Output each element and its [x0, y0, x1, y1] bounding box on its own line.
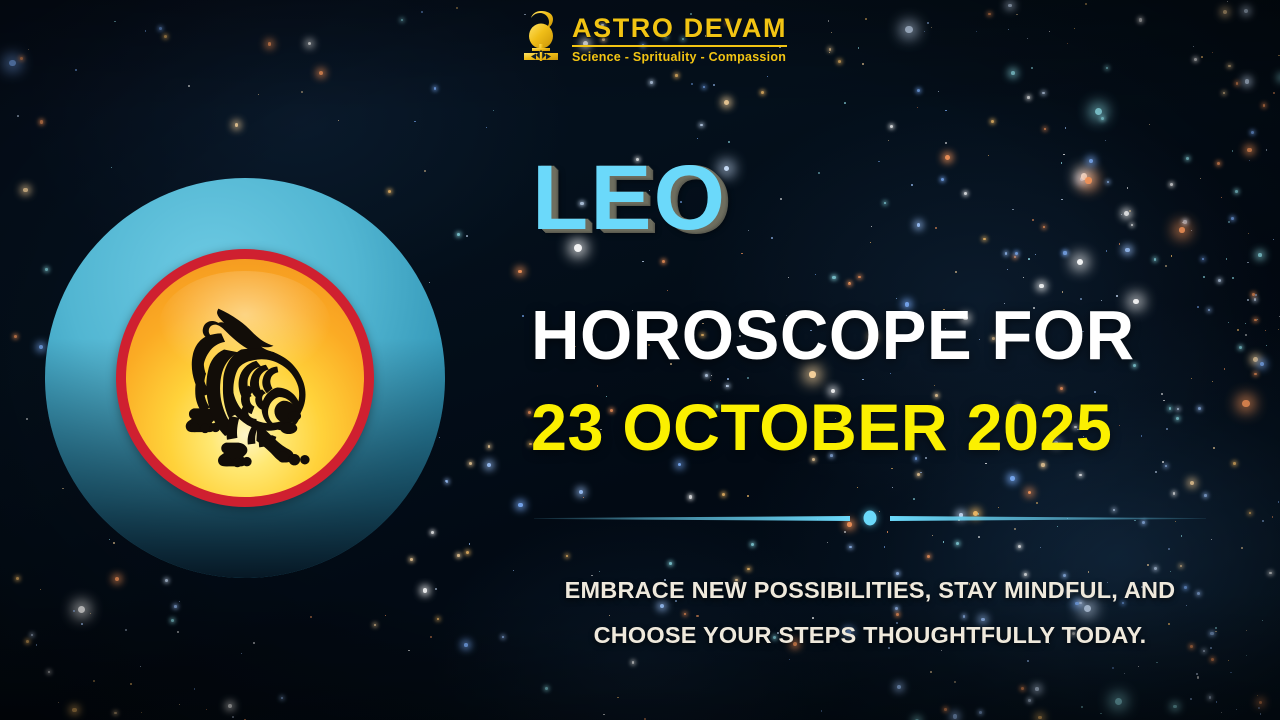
star — [194, 688, 196, 690]
star — [1259, 701, 1262, 704]
star — [93, 680, 95, 682]
star — [1260, 713, 1262, 715]
star — [9, 60, 16, 67]
leo-lion-icon — [150, 283, 340, 473]
star — [513, 570, 515, 572]
star — [1246, 655, 1247, 656]
star — [165, 579, 168, 582]
star — [72, 708, 77, 713]
star — [268, 42, 272, 46]
star — [281, 697, 283, 699]
star — [1223, 10, 1227, 14]
star — [206, 709, 207, 710]
star — [1237, 329, 1239, 331]
star — [1230, 672, 1232, 674]
star — [1233, 462, 1236, 465]
star — [1247, 262, 1248, 263]
leo-zodiac-emblem — [45, 178, 445, 578]
star — [457, 554, 459, 556]
star — [1228, 221, 1230, 223]
star — [179, 601, 180, 602]
star — [1262, 520, 1264, 522]
star — [1244, 9, 1248, 13]
star — [1232, 150, 1234, 152]
brand-logo-text: ASTRO DEVAM Science - Sprituality - Comp… — [572, 15, 787, 64]
star — [40, 589, 41, 590]
brand-name: ASTRO DEVAM — [572, 15, 787, 42]
astro-devam-emblem-icon — [520, 8, 562, 70]
brand-divider-rule — [572, 45, 787, 48]
star — [125, 629, 127, 631]
star — [78, 606, 85, 613]
star — [1248, 233, 1249, 234]
star — [114, 712, 116, 714]
star — [1252, 293, 1255, 296]
star — [171, 619, 174, 622]
star — [17, 115, 19, 117]
star — [1226, 258, 1228, 260]
star — [1227, 1, 1228, 2]
star — [235, 123, 239, 127]
star — [258, 94, 259, 95]
star — [228, 704, 232, 708]
star — [141, 712, 143, 714]
headline-date: 23 OCTOBER 2025 — [531, 394, 1207, 460]
star — [1231, 217, 1234, 220]
star — [1245, 334, 1247, 336]
star — [414, 121, 416, 123]
star — [457, 233, 460, 236]
star — [1257, 319, 1258, 320]
star — [1254, 373, 1257, 376]
star — [1221, 197, 1222, 198]
star — [464, 643, 468, 647]
star — [502, 636, 505, 639]
star — [130, 683, 132, 685]
star — [1278, 329, 1279, 330]
star — [469, 543, 471, 545]
star — [408, 650, 409, 651]
star — [1273, 239, 1274, 240]
star — [486, 127, 488, 129]
star — [338, 120, 339, 121]
star — [20, 57, 23, 60]
star — [446, 480, 449, 483]
brand-logo[interactable]: ASTRO DEVAM Science - Sprituality - Comp… — [520, 8, 787, 70]
star — [114, 21, 116, 23]
star — [1258, 707, 1259, 708]
star — [1241, 547, 1243, 549]
star — [374, 624, 376, 626]
star — [319, 71, 324, 76]
star — [58, 702, 59, 703]
brand-tagline: Science - Sprituality - Compassion — [572, 51, 786, 64]
star — [1224, 368, 1226, 370]
star — [1247, 299, 1249, 301]
star — [488, 445, 491, 448]
star — [1249, 160, 1250, 161]
star — [401, 19, 403, 21]
star — [111, 167, 112, 168]
star — [159, 27, 162, 30]
star — [466, 551, 469, 554]
star — [1232, 277, 1234, 279]
star — [16, 577, 19, 580]
star — [1228, 660, 1229, 661]
star — [1245, 79, 1250, 84]
star — [36, 644, 37, 645]
subtitle-message: EMBRACE NEW POSSIBILITIES, STAY MINDFUL,… — [520, 568, 1220, 657]
horoscope-poster: ASTRO DEVAM Science - Sprituality - Comp… — [0, 0, 1280, 720]
star — [1265, 330, 1266, 331]
star — [1245, 323, 1246, 324]
star — [423, 588, 428, 593]
star — [188, 85, 190, 87]
divider-dot-icon — [864, 511, 877, 526]
star — [437, 618, 440, 621]
star — [308, 42, 311, 45]
star — [1278, 501, 1280, 503]
star — [1247, 148, 1252, 153]
star — [1242, 400, 1249, 407]
star — [39, 345, 43, 349]
star — [301, 91, 303, 93]
star — [1249, 512, 1251, 514]
star — [421, 11, 423, 13]
star — [466, 235, 468, 237]
star — [145, 30, 147, 32]
zodiac-sign-title: LEO — [532, 152, 727, 244]
star — [430, 636, 432, 638]
star — [1253, 357, 1258, 362]
star — [1263, 104, 1266, 107]
star — [31, 634, 33, 636]
star — [1221, 712, 1223, 714]
star — [424, 170, 426, 172]
subtitle-line-2: CHOOSE YOUR STEPS THOUGHTFULLY TODAY. — [520, 613, 1220, 658]
star — [1269, 572, 1272, 575]
star — [310, 616, 312, 618]
star — [253, 642, 255, 644]
star — [81, 623, 83, 625]
star — [1258, 253, 1262, 257]
star — [1257, 695, 1258, 696]
star — [1251, 131, 1254, 134]
decorative-divider — [528, 508, 1212, 528]
star — [385, 615, 386, 616]
star — [40, 120, 43, 123]
divider-bar-right — [890, 516, 1206, 521]
star — [1260, 362, 1264, 366]
star — [23, 188, 28, 193]
star — [90, 613, 92, 615]
star — [493, 110, 494, 111]
star — [1266, 149, 1267, 150]
star — [75, 69, 76, 70]
star — [456, 7, 458, 9]
star — [48, 671, 50, 673]
star — [174, 605, 177, 608]
star — [28, 49, 30, 51]
star — [1223, 92, 1225, 94]
star — [14, 335, 17, 338]
star — [179, 704, 180, 705]
star — [1236, 82, 1239, 85]
star — [177, 631, 179, 633]
star — [434, 87, 436, 89]
star — [487, 463, 491, 467]
star — [1228, 322, 1229, 323]
star — [469, 462, 472, 465]
star — [1228, 65, 1230, 67]
star — [1239, 346, 1242, 349]
star — [1255, 294, 1257, 296]
headline-block: LEO HOROSCOPE FOR 23 OCTOBER 2025 EMBRAC… — [520, 0, 1220, 720]
star — [232, 716, 234, 718]
star — [1235, 190, 1238, 193]
divider-bar-left — [534, 516, 850, 521]
star — [435, 588, 437, 590]
headline-line-2: HOROSCOPE FOR — [531, 300, 1184, 370]
star — [445, 480, 447, 482]
star — [1262, 620, 1263, 621]
star — [1236, 709, 1237, 710]
star — [26, 640, 29, 643]
subtitle-line-1: EMBRACE NEW POSSIBILITIES, STAY MINDFUL,… — [520, 568, 1220, 613]
star — [1272, 516, 1274, 518]
star — [26, 418, 28, 420]
star — [1273, 92, 1275, 94]
star — [1254, 319, 1257, 322]
star — [1278, 55, 1279, 56]
star — [1246, 630, 1247, 631]
star — [164, 35, 167, 38]
star — [1254, 298, 1257, 301]
star — [1266, 345, 1267, 346]
star — [140, 666, 141, 667]
star — [241, 653, 242, 654]
star — [73, 610, 75, 612]
